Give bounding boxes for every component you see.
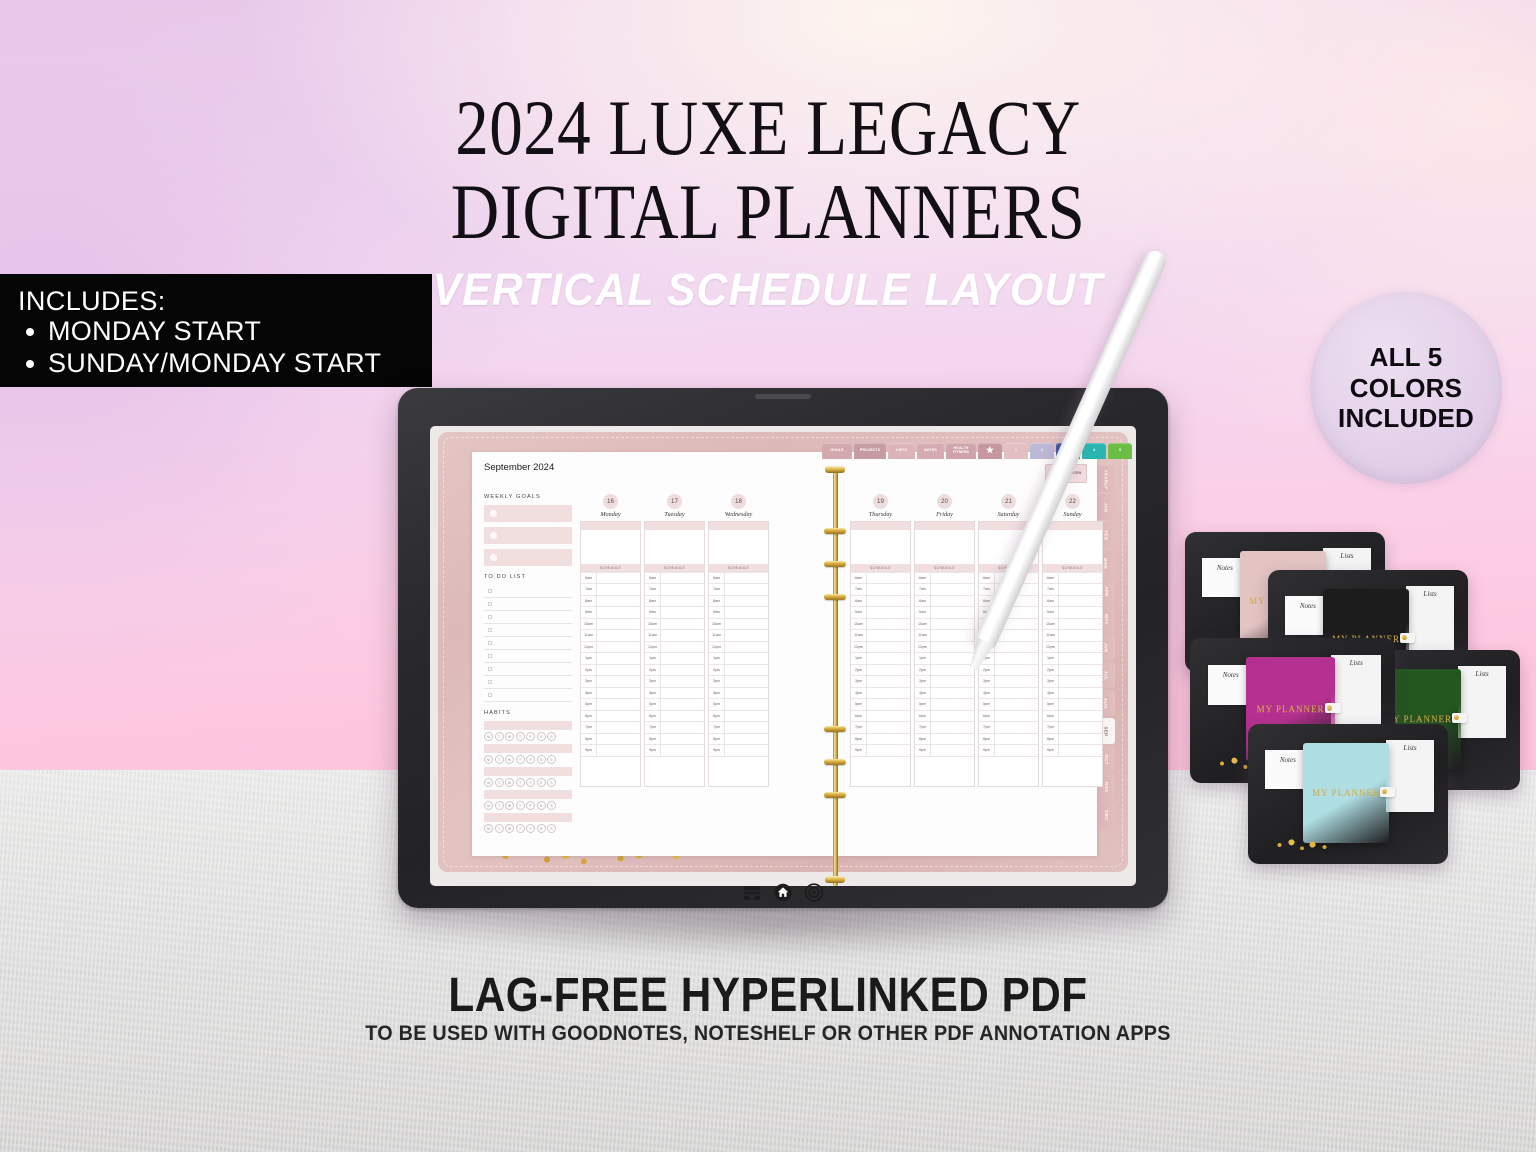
hour-entry-field[interactable] [597, 573, 640, 584]
todo-row[interactable] [484, 689, 572, 702]
schedule-hour-row[interactable]: 7pm [915, 721, 974, 733]
habit-day-toggle[interactable]: F [526, 755, 535, 764]
hour-entry-field[interactable] [661, 573, 704, 584]
habit-day-row[interactable]: MTWTFSS [484, 732, 572, 741]
todo-row[interactable] [484, 585, 572, 598]
schedule-hour-row[interactable]: 5pm [709, 698, 768, 710]
schedule-hour-row[interactable]: 9am [851, 606, 910, 618]
day-notes-area[interactable] [1043, 530, 1102, 564]
habit-day-toggle[interactable]: T [516, 801, 525, 810]
hour-entry-field[interactable] [1059, 596, 1102, 607]
hour-entry-field[interactable] [725, 642, 768, 653]
habit-day-toggle[interactable]: T [516, 778, 525, 787]
todo-row[interactable] [484, 624, 572, 637]
category-tab-projects[interactable]: PROJECTS [854, 443, 886, 459]
hour-entry-field[interactable] [995, 665, 1038, 676]
schedule-hour-row[interactable]: 8am [915, 595, 974, 607]
schedule-hour-row[interactable]: 10am [709, 618, 768, 630]
habit-day-toggle[interactable]: T [495, 732, 504, 741]
schedule-hour-row[interactable]: 4pm [979, 687, 1038, 699]
todo-row[interactable] [484, 637, 572, 650]
habit-day-toggle[interactable]: F [526, 732, 535, 741]
schedule-hour-row[interactable]: 7am [915, 583, 974, 595]
todo-checkbox-icon[interactable] [488, 615, 492, 619]
schedule-hour-row[interactable]: 12pm [1043, 641, 1102, 653]
hour-entry-field[interactable] [1059, 584, 1102, 595]
hour-entry-field[interactable] [995, 676, 1038, 687]
schedule-hour-row[interactable]: 8pm [915, 733, 974, 745]
schedule-hour-row[interactable]: 9pm [979, 744, 1038, 756]
todo-checkbox-icon[interactable] [488, 589, 492, 593]
todo-row[interactable] [484, 663, 572, 676]
schedule-hour-row[interactable]: 4pm [1043, 687, 1102, 699]
habit-day-toggle[interactable]: M [484, 801, 493, 810]
hour-entry-field[interactable] [995, 688, 1038, 699]
weekly-goals-list[interactable] [484, 505, 572, 566]
hour-entry-field[interactable] [725, 619, 768, 630]
schedule-hour-row[interactable]: 1pm [709, 652, 768, 664]
hour-entry-field[interactable] [1059, 688, 1102, 699]
hour-entry-field[interactable] [931, 630, 974, 641]
habit-day-toggle[interactable]: S [537, 755, 546, 764]
hour-entry-field[interactable] [931, 711, 974, 722]
hour-entry-field[interactable] [931, 607, 974, 618]
hour-entry-field[interactable] [931, 734, 974, 745]
day-number[interactable]: 17 [667, 494, 682, 509]
schedule-hour-row[interactable]: 11am [581, 629, 640, 641]
habit-name-field[interactable] [484, 813, 572, 822]
hour-entry-field[interactable] [995, 699, 1038, 710]
hour-entry-field[interactable] [1059, 676, 1102, 687]
goal-checkbox-icon[interactable] [490, 532, 497, 539]
schedule-hour-row[interactable]: 10am [1043, 618, 1102, 630]
home-icon[interactable] [774, 883, 793, 902]
weekly-goal-row[interactable] [484, 527, 572, 544]
hour-entry-field[interactable] [597, 607, 640, 618]
hour-entry-field[interactable] [661, 688, 704, 699]
hour-entry-field[interactable] [995, 711, 1038, 722]
hour-entry-field[interactable] [995, 642, 1038, 653]
hour-entry-field[interactable] [995, 653, 1038, 664]
schedule-hour-row[interactable]: 1pm [645, 652, 704, 664]
schedule-hour-row[interactable]: 9pm [645, 744, 704, 756]
habit-name-field[interactable] [484, 721, 572, 730]
habit-day-row[interactable]: MTWTFSS [484, 824, 572, 833]
hour-entry-field[interactable] [597, 745, 640, 756]
hour-entry-field[interactable] [725, 630, 768, 641]
schedule-hour-row[interactable]: 12pm [851, 641, 910, 653]
schedule-hour-row[interactable]: 6pm [1043, 710, 1102, 722]
habit-day-toggle[interactable]: W [505, 778, 514, 787]
hour-entry-field[interactable] [661, 584, 704, 595]
inbox-icon[interactable] [743, 883, 762, 902]
day-footer-area[interactable] [979, 756, 1038, 786]
habit-day-row[interactable]: MTWTFSS [484, 755, 572, 764]
day-notes-area[interactable] [645, 530, 704, 564]
schedule-hour-row[interactable]: 10am [915, 618, 974, 630]
schedule-hour-row[interactable]: 12pm [581, 641, 640, 653]
category-tab-lists[interactable]: LISTS [888, 443, 915, 459]
habit-day-toggle[interactable]: T [516, 755, 525, 764]
hour-entry-field[interactable] [1059, 630, 1102, 641]
schedule-hour-row[interactable]: 4pm [645, 687, 704, 699]
hour-entry-field[interactable] [867, 665, 910, 676]
hour-entry-field[interactable] [867, 688, 910, 699]
habit-day-toggle[interactable]: T [495, 755, 504, 764]
category-tab-goals[interactable]: GOALS [822, 443, 852, 459]
day-number[interactable]: 20 [937, 494, 952, 509]
schedule-hour-row[interactable]: 4pm [915, 687, 974, 699]
hour-entry-field[interactable] [1059, 722, 1102, 733]
hour-entry-field[interactable] [931, 665, 974, 676]
target-icon[interactable] [805, 883, 824, 902]
habit-day-toggle[interactable]: F [526, 801, 535, 810]
habit-name-field[interactable] [484, 790, 572, 799]
hour-entry-field[interactable] [931, 642, 974, 653]
hour-entry-field[interactable] [931, 745, 974, 756]
day-footer-area[interactable] [915, 756, 974, 786]
schedule-hour-row[interactable]: 4pm [851, 687, 910, 699]
todo-checkbox-icon[interactable] [488, 693, 492, 697]
habit-day-toggle[interactable]: W [505, 732, 514, 741]
hour-entry-field[interactable] [725, 711, 768, 722]
day-number[interactable]: 21 [1001, 494, 1016, 509]
schedule-hour-row[interactable]: 8pm [1043, 733, 1102, 745]
habit-day-toggle[interactable]: T [516, 824, 525, 833]
day-notes-area[interactable] [581, 530, 640, 564]
hour-entry-field[interactable] [867, 573, 910, 584]
habit-name-field[interactable] [484, 767, 572, 776]
hour-entry-field[interactable] [867, 734, 910, 745]
habit-day-toggle[interactable]: S [547, 824, 556, 833]
schedule-hour-row[interactable]: 9am [915, 606, 974, 618]
schedule-hour-row[interactable]: 9pm [709, 744, 768, 756]
schedule-hour-row[interactable]: 7am [851, 583, 910, 595]
hour-entry-field[interactable] [597, 596, 640, 607]
hour-entry-field[interactable] [725, 745, 768, 756]
weekly-goal-row[interactable] [484, 505, 572, 522]
schedule-hour-row[interactable]: 10am [851, 618, 910, 630]
habit-day-toggle[interactable]: W [505, 824, 514, 833]
color-variant-light-blue[interactable]: NotesListsMY PLANNER [1248, 724, 1448, 864]
schedule-hour-row[interactable]: 8pm [709, 733, 768, 745]
hour-entry-field[interactable] [867, 676, 910, 687]
hour-entry-field[interactable] [1059, 699, 1102, 710]
habit-day-toggle[interactable]: F [526, 824, 535, 833]
category-tab-2[interactable]: 2 [1030, 443, 1054, 459]
schedule-hour-row[interactable]: 9am [709, 606, 768, 618]
habit-day-toggle[interactable]: T [495, 778, 504, 787]
hour-entry-field[interactable] [661, 653, 704, 664]
schedule-hour-row[interactable]: 6am [915, 572, 974, 584]
hour-entry-field[interactable] [931, 688, 974, 699]
schedule-hour-row[interactable]: 7am [645, 583, 704, 595]
schedule-hour-row[interactable]: 7am [1043, 583, 1102, 595]
category-tab-health-fitness[interactable]: HEALTH FITNESS [946, 443, 976, 459]
hour-entry-field[interactable] [1059, 642, 1102, 653]
schedule-hour-row[interactable]: 1pm [581, 652, 640, 664]
hour-entry-field[interactable] [597, 734, 640, 745]
hour-entry-field[interactable] [1059, 734, 1102, 745]
hour-entry-field[interactable] [725, 573, 768, 584]
schedule-hour-row[interactable]: 6pm [915, 710, 974, 722]
schedule-hour-row[interactable]: 3pm [645, 675, 704, 687]
habit-day-toggle[interactable]: S [547, 755, 556, 764]
habit-day-toggle[interactable]: T [495, 824, 504, 833]
hour-entry-field[interactable] [725, 688, 768, 699]
day-number[interactable]: 16 [603, 494, 618, 509]
schedule-hour-row[interactable]: 9pm [581, 744, 640, 756]
hour-entry-field[interactable] [867, 619, 910, 630]
planner-bottom-nav[interactable] [743, 883, 824, 902]
habit-day-toggle[interactable]: M [484, 824, 493, 833]
hour-entry-field[interactable] [661, 642, 704, 653]
habit-day-toggle[interactable]: S [537, 778, 546, 787]
schedule-hour-row[interactable]: 10am [581, 618, 640, 630]
habit-day-toggle[interactable]: M [484, 778, 493, 787]
schedule-hour-row[interactable]: 6pm [851, 710, 910, 722]
schedule-hour-row[interactable]: 8pm [979, 733, 1038, 745]
day-notes-area[interactable] [709, 530, 768, 564]
schedule-hour-row[interactable]: 7pm [645, 721, 704, 733]
hour-entry-field[interactable] [867, 596, 910, 607]
schedule-hour-row[interactable]: 3pm [979, 675, 1038, 687]
day-notes-area[interactable] [915, 530, 974, 564]
schedule-hour-row[interactable]: 3pm [1043, 675, 1102, 687]
hour-entry-field[interactable] [995, 734, 1038, 745]
hour-entry-field[interactable] [597, 711, 640, 722]
hour-entry-field[interactable] [1059, 653, 1102, 664]
hour-entry-field[interactable] [995, 745, 1038, 756]
hour-entry-field[interactable] [931, 573, 974, 584]
schedule-hour-row[interactable]: 2pm [1043, 664, 1102, 676]
habits-tracker[interactable]: MTWTFSSMTWTFSSMTWTFSSMTWTFSSMTWTFSS [484, 721, 572, 833]
hour-entry-field[interactable] [867, 642, 910, 653]
schedule-hour-row[interactable]: 8pm [851, 733, 910, 745]
schedule-hour-row[interactable]: 9pm [851, 744, 910, 756]
schedule-hour-row[interactable]: 2pm [645, 664, 704, 676]
schedule-hour-row[interactable]: 11am [709, 629, 768, 641]
hour-entry-field[interactable] [597, 642, 640, 653]
category-tab-1[interactable]: 1 [1004, 443, 1028, 459]
schedule-hour-row[interactable]: 8am [709, 595, 768, 607]
schedule-hour-row[interactable]: 2pm [581, 664, 640, 676]
habit-day-toggle[interactable]: S [547, 778, 556, 787]
category-tab-5[interactable]: 5 [1108, 443, 1132, 459]
schedule-hour-row[interactable]: 5pm [915, 698, 974, 710]
hour-entry-field[interactable] [867, 630, 910, 641]
day-footer-area[interactable] [851, 756, 910, 786]
hour-entry-field[interactable] [597, 630, 640, 641]
schedule-hour-row[interactable]: 3pm [915, 675, 974, 687]
day-number[interactable]: 22 [1065, 494, 1080, 509]
todo-checkbox-icon[interactable] [488, 654, 492, 658]
day-footer-area[interactable] [645, 756, 704, 786]
day-number[interactable]: 18 [731, 494, 746, 509]
schedule-hour-row[interactable]: 7pm [979, 721, 1038, 733]
habit-day-toggle[interactable]: W [505, 801, 514, 810]
hour-entry-field[interactable] [661, 607, 704, 618]
hour-entry-field[interactable] [661, 619, 704, 630]
todo-row[interactable] [484, 598, 572, 611]
schedule-hour-row[interactable]: 4pm [581, 687, 640, 699]
day-notes-area[interactable] [851, 530, 910, 564]
todo-checkbox-icon[interactable] [488, 680, 492, 684]
hour-entry-field[interactable] [725, 584, 768, 595]
hour-entry-field[interactable] [597, 722, 640, 733]
schedule-hour-row[interactable]: 2pm [979, 664, 1038, 676]
schedule-hour-row[interactable]: 10am [645, 618, 704, 630]
schedule-hour-row[interactable]: 6am [1043, 572, 1102, 584]
schedule-hour-row[interactable]: 9am [1043, 606, 1102, 618]
category-tab-notes[interactable]: NOTES [917, 443, 944, 459]
habit-day-toggle[interactable]: S [537, 801, 546, 810]
habit-day-toggle[interactable]: S [537, 732, 546, 741]
hour-entry-field[interactable] [725, 734, 768, 745]
schedule-hour-row[interactable]: 1pm [851, 652, 910, 664]
schedule-hour-row[interactable]: 5pm [645, 698, 704, 710]
schedule-hour-row[interactable]: 6pm [581, 710, 640, 722]
schedule-hour-row[interactable]: 11am [851, 629, 910, 641]
schedule-hour-row[interactable]: 12pm [645, 641, 704, 653]
goal-checkbox-icon[interactable] [490, 510, 497, 517]
hour-entry-field[interactable] [931, 596, 974, 607]
hour-entry-field[interactable] [661, 665, 704, 676]
schedule-hour-row[interactable]: 6am [709, 572, 768, 584]
hour-entry-field[interactable] [931, 676, 974, 687]
hour-entry-field[interactable] [1059, 573, 1102, 584]
hour-entry-field[interactable] [931, 619, 974, 630]
habit-name-field[interactable] [484, 744, 572, 753]
schedule-hour-row[interactable]: 6pm [979, 710, 1038, 722]
schedule-hour-row[interactable]: 2pm [709, 664, 768, 676]
habit-day-toggle[interactable]: S [537, 824, 546, 833]
day-footer-area[interactable] [581, 756, 640, 786]
schedule-hour-row[interactable]: 7pm [1043, 721, 1102, 733]
hour-entry-field[interactable] [867, 722, 910, 733]
hour-entry-field[interactable] [661, 722, 704, 733]
hour-entry-field[interactable] [597, 688, 640, 699]
schedule-hour-row[interactable]: 9pm [915, 744, 974, 756]
schedule-hour-row[interactable]: 5pm [851, 698, 910, 710]
schedule-hour-row[interactable]: 5pm [1043, 698, 1102, 710]
month-tab-yearly[interactable]: YEARLY [1097, 466, 1115, 492]
schedule-hour-row[interactable]: 7am [709, 583, 768, 595]
hour-entry-field[interactable] [725, 699, 768, 710]
schedule-hour-row[interactable]: 2pm [915, 664, 974, 676]
schedule-hour-row[interactable]: 6am [581, 572, 640, 584]
todo-checkbox-icon[interactable] [488, 641, 492, 645]
hour-entry-field[interactable] [661, 676, 704, 687]
habit-day-row[interactable]: MTWTFSS [484, 778, 572, 787]
todo-checkbox-icon[interactable] [488, 602, 492, 606]
schedule-hour-row[interactable]: 8am [1043, 595, 1102, 607]
schedule-hour-row[interactable]: 3pm [709, 675, 768, 687]
hour-entry-field[interactable] [597, 676, 640, 687]
schedule-hour-row[interactable]: 7pm [709, 721, 768, 733]
schedule-hour-row[interactable]: 9am [581, 606, 640, 618]
weekly-goal-row[interactable] [484, 549, 572, 566]
habit-day-row[interactable]: MTWTFSS [484, 801, 572, 810]
habit-day-toggle[interactable]: T [495, 801, 504, 810]
hour-entry-field[interactable] [597, 653, 640, 664]
hour-entry-field[interactable] [931, 584, 974, 595]
schedule-hour-row[interactable]: 8am [645, 595, 704, 607]
day-number[interactable]: 19 [873, 494, 888, 509]
hour-entry-field[interactable] [931, 699, 974, 710]
hour-entry-field[interactable] [867, 607, 910, 618]
hour-entry-field[interactable] [725, 607, 768, 618]
schedule-hour-row[interactable]: 12pm [709, 641, 768, 653]
hour-entry-field[interactable] [661, 630, 704, 641]
hour-entry-field[interactable] [725, 665, 768, 676]
hour-entry-field[interactable] [661, 734, 704, 745]
schedule-hour-row[interactable]: 3pm [581, 675, 640, 687]
schedule-hour-row[interactable]: 12pm [915, 641, 974, 653]
todo-checkbox-icon[interactable] [488, 667, 492, 671]
hour-entry-field[interactable] [867, 584, 910, 595]
schedule-hour-row[interactable]: 11am [1043, 629, 1102, 641]
habit-day-toggle[interactable]: F [526, 778, 535, 787]
schedule-hour-row[interactable]: 8am [851, 595, 910, 607]
schedule-hour-row[interactable]: 6pm [709, 710, 768, 722]
hour-entry-field[interactable] [725, 596, 768, 607]
schedule-hour-row[interactable]: 9pm [1043, 744, 1102, 756]
schedule-hour-row[interactable]: 6am [851, 572, 910, 584]
hour-entry-field[interactable] [661, 745, 704, 756]
schedule-hour-row[interactable]: 8pm [645, 733, 704, 745]
hour-entry-field[interactable] [1059, 607, 1102, 618]
schedule-hour-row[interactable]: 11am [915, 629, 974, 641]
schedule-hour-row[interactable]: 1pm [1043, 652, 1102, 664]
todo-list[interactable] [484, 585, 572, 702]
schedule-hour-row[interactable]: 5pm [581, 698, 640, 710]
hour-entry-field[interactable] [597, 584, 640, 595]
goal-checkbox-icon[interactable] [490, 554, 497, 561]
hour-entry-field[interactable] [725, 653, 768, 664]
hour-entry-field[interactable] [867, 745, 910, 756]
hour-entry-field[interactable] [597, 619, 640, 630]
month-tab-dec[interactable]: DEC [1097, 802, 1115, 828]
schedule-hour-row[interactable]: 4pm [709, 687, 768, 699]
schedule-hour-row[interactable]: 3pm [851, 675, 910, 687]
todo-row[interactable] [484, 650, 572, 663]
hour-entry-field[interactable] [995, 722, 1038, 733]
schedule-hour-row[interactable]: 6pm [645, 710, 704, 722]
hour-entry-field[interactable] [661, 711, 704, 722]
habit-day-toggle[interactable]: W [505, 755, 514, 764]
habit-day-toggle[interactable]: T [516, 732, 525, 741]
hour-entry-field[interactable] [597, 699, 640, 710]
category-tab-4[interactable]: 4 [1082, 443, 1106, 459]
habit-day-toggle[interactable]: S [547, 732, 556, 741]
schedule-hour-row[interactable]: 9am [645, 606, 704, 618]
schedule-hour-row[interactable]: 5pm [979, 698, 1038, 710]
hour-entry-field[interactable] [661, 699, 704, 710]
schedule-hour-row[interactable]: 7am [581, 583, 640, 595]
schedule-hour-row[interactable]: 7pm [851, 721, 910, 733]
day-footer-area[interactable] [709, 756, 768, 786]
hour-entry-field[interactable] [867, 699, 910, 710]
habit-day-toggle[interactable]: M [484, 755, 493, 764]
day-footer-area[interactable] [1043, 756, 1102, 786]
schedule-hour-row[interactable]: 8am [581, 595, 640, 607]
hour-entry-field[interactable] [661, 596, 704, 607]
schedule-hour-row[interactable]: 8pm [581, 733, 640, 745]
schedule-hour-row[interactable]: 7pm [581, 721, 640, 733]
hour-entry-field[interactable] [725, 676, 768, 687]
hour-entry-field[interactable] [1059, 665, 1102, 676]
